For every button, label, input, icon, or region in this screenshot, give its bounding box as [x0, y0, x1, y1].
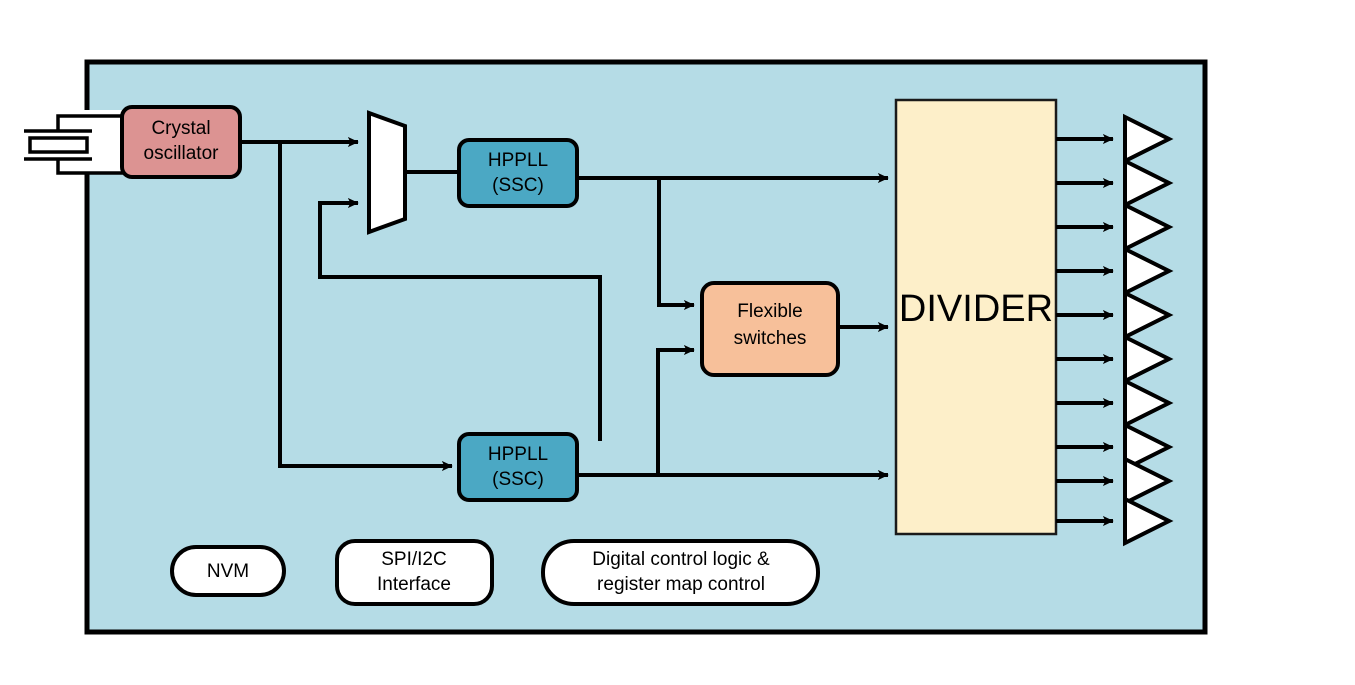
mux-block[interactable] [369, 113, 405, 232]
crystal-oscillator-label-line1: Crystal [151, 118, 210, 139]
crystal-icon [17, 110, 127, 173]
bottom-block-digital-control-label-line1: Digital control logic & [592, 549, 770, 570]
pll-top-label-line1: HPPLL [488, 150, 548, 171]
flexible-switches-label-line1: Flexible [737, 301, 802, 322]
pll-top-block[interactable]: HPPLL (SSC) [459, 140, 577, 206]
flexible-switches-block[interactable]: Flexible switches [702, 283, 838, 375]
bottom-block-nvm-label: NVM [207, 561, 249, 582]
divider-label: DIVIDER [899, 288, 1053, 330]
block-diagram-canvas: Crystal oscillator HPPLL (SSC) HPPLL (SS… [0, 0, 1355, 685]
crystal-oscillator-block[interactable]: Crystal oscillator [122, 107, 240, 177]
pll-bottom-label-line1: HPPLL [488, 444, 548, 465]
divider-block[interactable]: DIVIDER [896, 100, 1056, 534]
crystal-oscillator-label-line2: oscillator [144, 143, 220, 164]
block-diagram-root: Crystal oscillator HPPLL (SSC) HPPLL (SS… [0, 0, 1355, 685]
pll-bottom-block[interactable]: HPPLL (SSC) [459, 434, 577, 500]
pll-bottom-label-line2: (SSC) [492, 469, 544, 490]
bottom-block-spi-i2c[interactable]: SPI/I2C Interface [337, 541, 492, 604]
flexible-switches-label-line2: switches [734, 328, 807, 349]
pll-top-label-line2: (SSC) [492, 175, 544, 196]
bottom-block-digital-control-label-line2: register map control [597, 574, 765, 595]
bottom-block-nvm[interactable]: NVM [172, 547, 284, 595]
bottom-block-spi-i2c-label-line1: SPI/I2C [381, 549, 446, 570]
bottom-block-spi-i2c-label-line2: Interface [377, 574, 451, 595]
bottom-block-digital-control[interactable]: Digital control logic & register map con… [543, 541, 818, 604]
